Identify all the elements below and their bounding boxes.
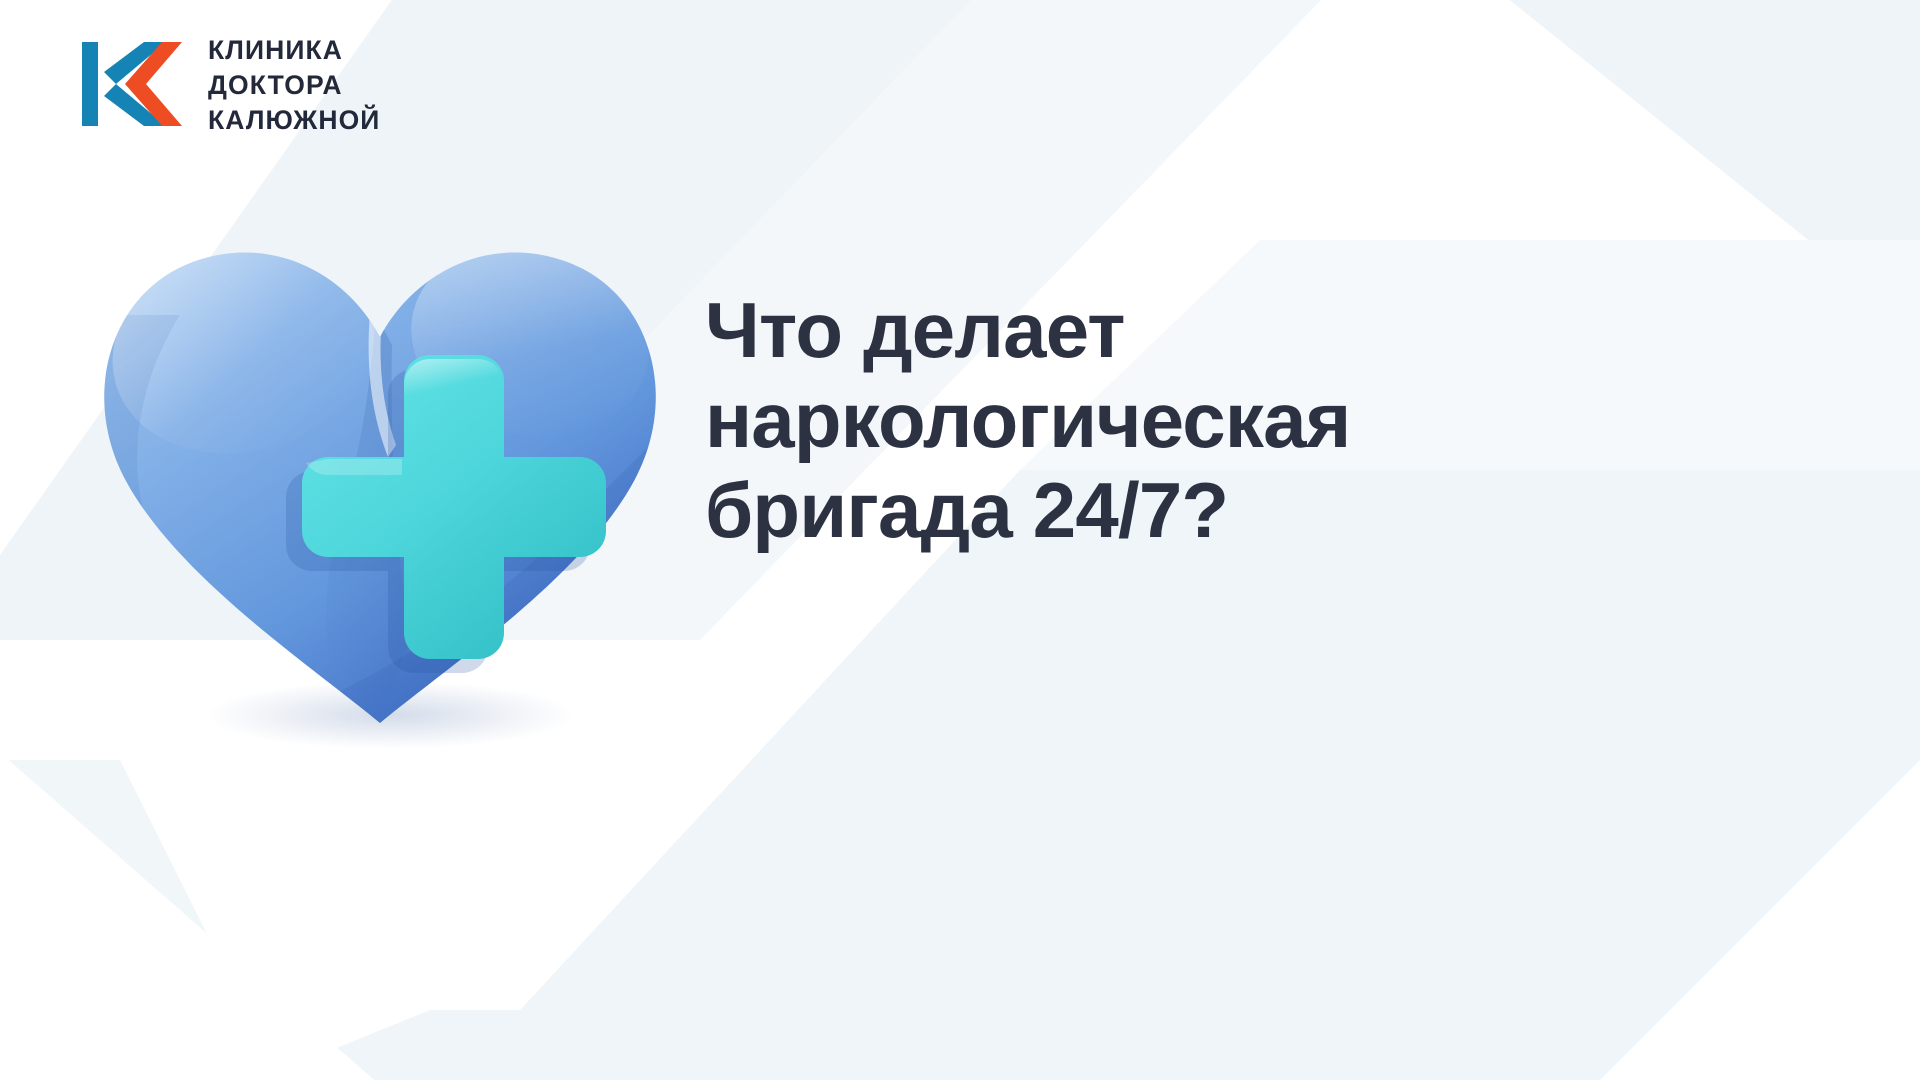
- heart-illustration: [60, 195, 700, 755]
- headline-line-2: наркологическая: [705, 375, 1545, 465]
- brand-name-line-1: КЛИНИКА: [208, 33, 380, 67]
- double-chevron-k-logo-icon: [78, 28, 186, 140]
- blue-heart-with-medical-cross-icon: [60, 195, 700, 755]
- brand-logo[interactable]: КЛИНИКА ДОКТОРА КАЛЮЖНОЙ: [78, 28, 380, 140]
- headline-line-3: бригада 24/7?: [705, 465, 1545, 555]
- brand-name-line-3: КАЛЮЖНОЙ: [208, 103, 380, 137]
- headline: Что делает наркологическая бригада 24/7?: [705, 285, 1545, 555]
- headline-line-1: Что делает: [705, 285, 1545, 375]
- brand-name-line-2: ДОКТОРА: [208, 68, 380, 102]
- promo-banner: КЛИНИКА ДОКТОРА КАЛЮЖНОЙ: [0, 0, 1920, 1080]
- brand-name: КЛИНИКА ДОКТОРА КАЛЮЖНОЙ: [208, 31, 380, 138]
